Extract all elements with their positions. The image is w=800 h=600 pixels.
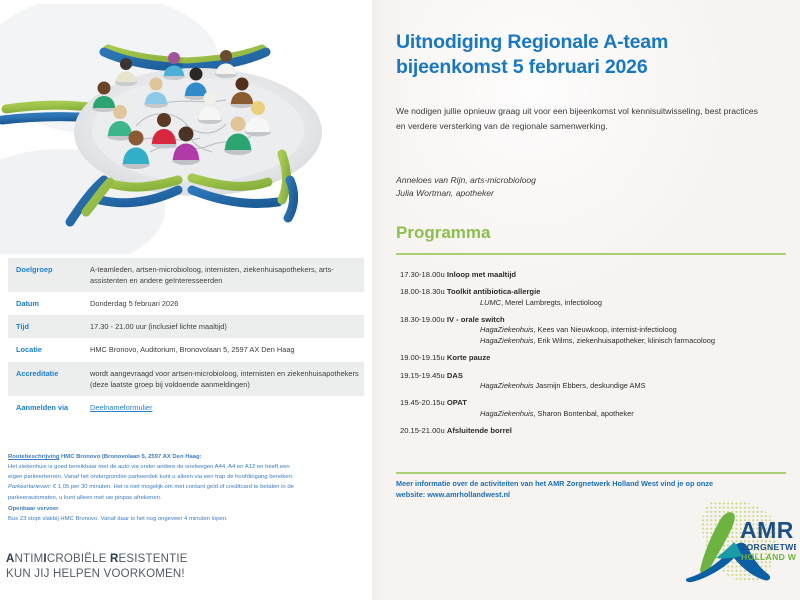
list-item: 18.30-19.00u IV - orale switch HagaZieke… bbox=[400, 315, 792, 346]
row-label-doelgroep: Doelgroep bbox=[8, 258, 82, 292]
table-row: Tijd 17.30 - 21.00 uur (inclusief lichte… bbox=[8, 315, 364, 338]
left-column: Doelgroep A-teamleden, artsen-microbiolo… bbox=[0, 0, 372, 600]
tagline-bold-r: R bbox=[110, 553, 119, 565]
table-row: Datum Donderdag 5 februari 2026 bbox=[8, 292, 364, 315]
row-label-tijd: Tijd bbox=[8, 315, 82, 338]
route-line-1: Het ziekenhuis is goed bereikbaar met de… bbox=[8, 462, 368, 472]
programma-topic: DAS bbox=[447, 371, 463, 380]
programma-time: 19.00-19.15u bbox=[400, 353, 447, 362]
programma-time: 20.15-21.00u bbox=[400, 426, 447, 435]
deelnameformulier-link[interactable]: Deelnameformulier bbox=[90, 403, 152, 412]
table-row: Doelgroep A-teamleden, artsen-microbiolo… bbox=[8, 258, 364, 292]
programma-speaker-org: HagaZiekenhuis bbox=[480, 381, 533, 390]
page-title-line-1: Uitnodiging Regionale A-team bbox=[396, 30, 776, 55]
programma-list: 17.30-18.00u Inloop met maaltijd 18.00-1… bbox=[400, 270, 792, 443]
programma-topic: Toolkit antibiotica-allergie bbox=[447, 287, 541, 296]
route-heading-rest: HMC Bronovo (Bronovolaan 5, 2597 AX Den … bbox=[59, 454, 201, 460]
tagline-line-2: KUN JIJ HELPEN VOORKOMEN! bbox=[6, 567, 188, 582]
table-row: Aanmelden via Deelnameformulier bbox=[8, 396, 364, 419]
logo-wordmark-amr: AMR bbox=[740, 517, 794, 543]
row-label-aanmelden: Aanmelden via bbox=[8, 396, 82, 419]
programma-entry-line: 19.45-20.15u OPAT bbox=[400, 398, 792, 408]
programma-speaker: HagaZiekenhuis Jasmijn Ebbers, deskundig… bbox=[480, 381, 792, 392]
list-item: 20.15-21.00u Afsluitende borrel bbox=[400, 426, 792, 436]
programma-topic: Korte pauze bbox=[447, 353, 490, 362]
programma-entry-line: 18.00-18.30u Toolkit antibiotica-allergi… bbox=[400, 287, 792, 297]
programma-speaker: HagaZiekenhuis, Sharon Bontenbal, apothe… bbox=[480, 409, 792, 420]
invitation-page: Doelgroep A-teamleden, artsen-microbiolo… bbox=[0, 0, 800, 600]
programma-speaker-org: LUMC bbox=[480, 298, 501, 307]
signer-2: Julia Wortman, apotheker bbox=[396, 187, 766, 200]
programma-heading: Programma bbox=[396, 223, 490, 243]
row-label-accreditatie: Accreditatie bbox=[8, 362, 82, 396]
programma-bottom-divider bbox=[396, 472, 786, 474]
programma-time: 19.15-19.45u bbox=[400, 371, 447, 380]
list-item: 17.30-18.00u Inloop met maaltijd bbox=[400, 270, 792, 280]
tagline-line-1: ANTIMICROBIËLE RESISTENTIE bbox=[6, 552, 188, 567]
logo-wordmark-zorgnetwerk: ZORGNETWERK bbox=[741, 542, 796, 552]
programma-entry-line: 19.15-19.45u DAS bbox=[400, 371, 792, 381]
row-value-datum: Donderdag 5 februari 2026 bbox=[82, 292, 364, 315]
footer-line-1: Meer informatie over de activiteiten van… bbox=[396, 479, 788, 490]
programma-entry-line: 18.30-19.00u IV - orale switch bbox=[400, 315, 792, 325]
programma-speaker-person: , Kees van Nieuwkoop, internist-infectio… bbox=[533, 325, 676, 334]
intro-paragraph: We nodigen jullie opnieuw graag uit voor… bbox=[396, 104, 766, 134]
list-item: 18.00-18.30u Toolkit antibiotica-allergi… bbox=[400, 287, 792, 308]
programma-speaker: HagaZiekenhuis, Kees van Nieuwkoop, inte… bbox=[480, 325, 792, 336]
programma-entry-line: 19.00-19.15u Korte pauze bbox=[400, 353, 792, 363]
signer-1: Anneloes van Rijn, arts-microbioloog bbox=[396, 174, 766, 187]
programma-top-divider bbox=[396, 253, 786, 255]
row-value-doelgroep: A-teamleden, artsen-microbioloog, intern… bbox=[82, 258, 364, 292]
programma-time: 17.30-18.00u bbox=[400, 270, 447, 279]
route-parking-label: Parkeertarieven: bbox=[8, 484, 51, 490]
row-label-datum: Datum bbox=[8, 292, 82, 315]
list-item: 19.45-20.15u OPAT HagaZiekenhuis, Sharon… bbox=[400, 398, 792, 419]
tagline-seg-esistentie: ESISTENTIE bbox=[119, 553, 188, 565]
programma-time: 19.45-20.15u bbox=[400, 398, 447, 407]
route-line-5: Bus 23 stopt vlakbij HMC Bronovo. Vanaf … bbox=[8, 514, 368, 524]
programma-speaker-org: HagaZiekenhuis bbox=[480, 325, 533, 334]
programma-speaker: LUMC, Merel Lambregts, infectioloog bbox=[480, 298, 792, 309]
programma-speaker-org: HagaZiekenhuis bbox=[480, 409, 533, 418]
route-subheading-public-transport: Openbaar vervoer bbox=[8, 504, 368, 514]
route-description-block: Routebeschrijving HMC Bronovo (Bronovola… bbox=[8, 452, 368, 524]
amr-tagline: ANTIMICROBIËLE RESISTENTIE KUN JIJ HELPE… bbox=[6, 552, 188, 581]
logo-wordmark-holland-west: HOLLAND WEST bbox=[741, 552, 796, 562]
programma-speaker-org: HagaZiekenhuis bbox=[480, 336, 533, 345]
row-value-locatie: HMC Bronovo, Auditorium, Bronovolaan 5, … bbox=[82, 338, 364, 361]
row-label-locatie: Locatie bbox=[8, 338, 82, 361]
list-item: 19.15-19.45u DAS HagaZiekenhuis Jasmijn … bbox=[400, 371, 792, 392]
list-item: 19.00-19.15u Korte pauze bbox=[400, 353, 792, 363]
tagline-seg-crobiele: CROBIËLE bbox=[47, 553, 110, 565]
row-value-tijd: 17.30 - 21.00 uur (inclusief lichte maal… bbox=[82, 315, 364, 338]
event-details-table: Doelgroep A-teamleden, artsen-microbiolo… bbox=[8, 258, 364, 419]
page-title-line-2: bijeenkomst 5 februari 2026 bbox=[396, 55, 776, 80]
table-row: Accreditatie wordt aangevraagd voor arts… bbox=[8, 362, 364, 396]
route-heading-underlined: Routebeschrijving bbox=[8, 454, 59, 460]
programma-speaker-person: , Sharon Bontenbal, apotheker bbox=[533, 409, 633, 418]
programma-topic: OPAT bbox=[447, 398, 467, 407]
route-line-2: eigen parkeerterrein. Vanaf het ondergro… bbox=[8, 472, 368, 482]
tagline-seg-ntim: NTIM bbox=[15, 553, 44, 565]
programma-speaker-person: Jasmijn Ebbers, deskundige AMS bbox=[533, 381, 645, 390]
programma-time: 18.30-19.00u bbox=[400, 315, 447, 324]
programma-speaker: HagaZiekenhuis, Erik Wilms, ziekenhuisap… bbox=[480, 336, 792, 347]
programma-topic: IV - orale switch bbox=[447, 315, 505, 324]
programma-entry-line: 20.15-21.00u Afsluitende borrel bbox=[400, 426, 792, 436]
row-value-accreditatie: wordt aangevraagd voor artsen-microbiolo… bbox=[82, 362, 364, 396]
programma-time: 18.00-18.30u bbox=[400, 287, 447, 296]
network-of-people-illustration bbox=[0, 4, 372, 254]
page-title: Uitnodiging Regionale A-team bijeenkomst… bbox=[396, 30, 776, 81]
route-line-3: Parkeertarieven: € 1,05 per 30 minuten. … bbox=[8, 482, 368, 492]
route-heading: Routebeschrijving HMC Bronovo (Bronovola… bbox=[8, 452, 368, 462]
signers-block: Anneloes van Rijn, arts-microbioloog Jul… bbox=[396, 174, 766, 200]
amr-zorgnetwerk-holland-west-logo: AMR ZORGNETWERK HOLLAND WEST bbox=[668, 498, 796, 594]
programma-topic: Inloop met maaltijd bbox=[447, 270, 516, 279]
tagline-bold-a: A bbox=[6, 553, 15, 565]
route-line-4: parkeerautomaten, u kunt alleen met uw p… bbox=[8, 493, 368, 503]
programma-entry-line: 17.30-18.00u Inloop met maaltijd bbox=[400, 270, 792, 280]
programma-topic: Afsluitende borrel bbox=[447, 426, 512, 435]
row-value-aanmelden: Deelnameformulier bbox=[82, 396, 364, 419]
route-parking-rest: € 1,05 per 30 minuten. Het is niet mogel… bbox=[51, 484, 294, 490]
table-row: Locatie HMC Bronovo, Auditorium, Bronovo… bbox=[8, 338, 364, 361]
programma-speaker-person: , Merel Lambregts, infectioloog bbox=[501, 298, 602, 307]
programma-speaker-person: , Erik Wilms, ziekenhuisapotheker, klini… bbox=[533, 336, 715, 345]
